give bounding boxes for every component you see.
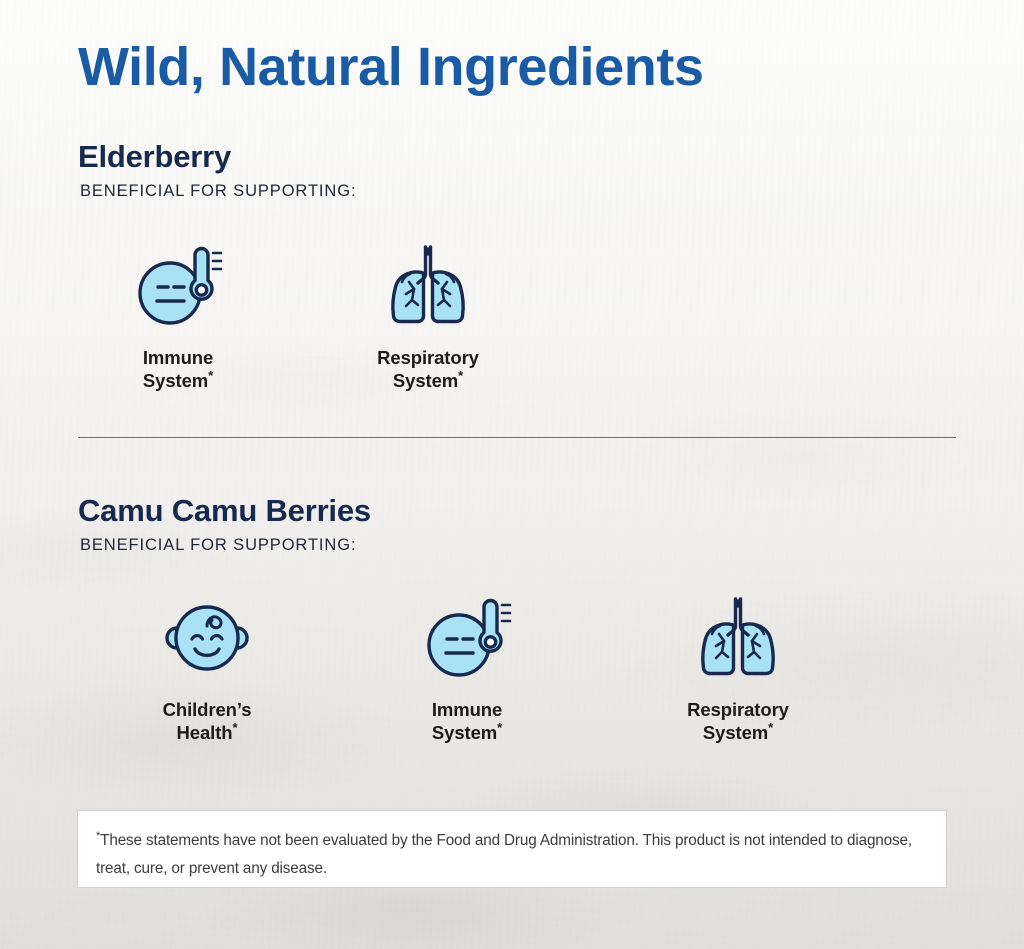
baby-face-icon [155,590,259,686]
footnote-marker: * [458,368,463,383]
section-elderberry: Elderberry BENEFICIAL FOR SUPPORTING: [78,138,356,202]
benefit-row-elderberry: Immune System* [78,238,578,392]
benefit-label: Immune System* [143,346,213,392]
section-camu-camu-berries: Camu Camu Berries BENEFICIAL FOR SUPPORT… [78,492,371,556]
footnote-marker: * [768,720,773,735]
benefit-item-respiratory-system: Respiratory System* [278,238,578,392]
section-subheading: BENEFICIAL FOR SUPPORTING: [80,180,356,202]
section-subheading: BENEFICIAL FOR SUPPORTING: [80,534,371,556]
benefit-item-childrens-health: Children’s Health* [78,590,336,744]
disclaimer-text: *These statements have not been evaluate… [96,827,926,883]
benefit-row-camu-camu: Children’s Health* [78,590,878,744]
lungs-icon [686,590,790,686]
section-heading: Elderberry [78,138,356,176]
benefit-item-immune-system: Immune System* [78,238,278,392]
disclaimer-box: *These statements have not been evaluate… [77,810,947,888]
footnote-marker: * [497,720,502,735]
benefit-label: Respiratory System* [377,346,479,392]
benefit-item-respiratory-system: Respiratory System* [598,590,878,744]
ingredients-infographic: Wild, Natural Ingredients Elderberry BEN… [0,0,1024,949]
benefit-item-immune-system: Immune System* [336,590,598,744]
footnote-marker: * [232,720,237,735]
benefit-label: Respiratory System* [687,698,789,744]
page-title: Wild, Natural Ingredients [78,34,704,100]
face-thermometer-icon [126,238,230,334]
footnote-marker: * [208,368,213,383]
benefit-label: Immune System* [432,698,502,744]
lungs-icon [376,238,480,334]
section-heading: Camu Camu Berries [78,492,371,530]
benefit-label: Children’s Health* [163,698,252,744]
section-divider [78,437,956,438]
face-thermometer-icon [415,590,519,686]
